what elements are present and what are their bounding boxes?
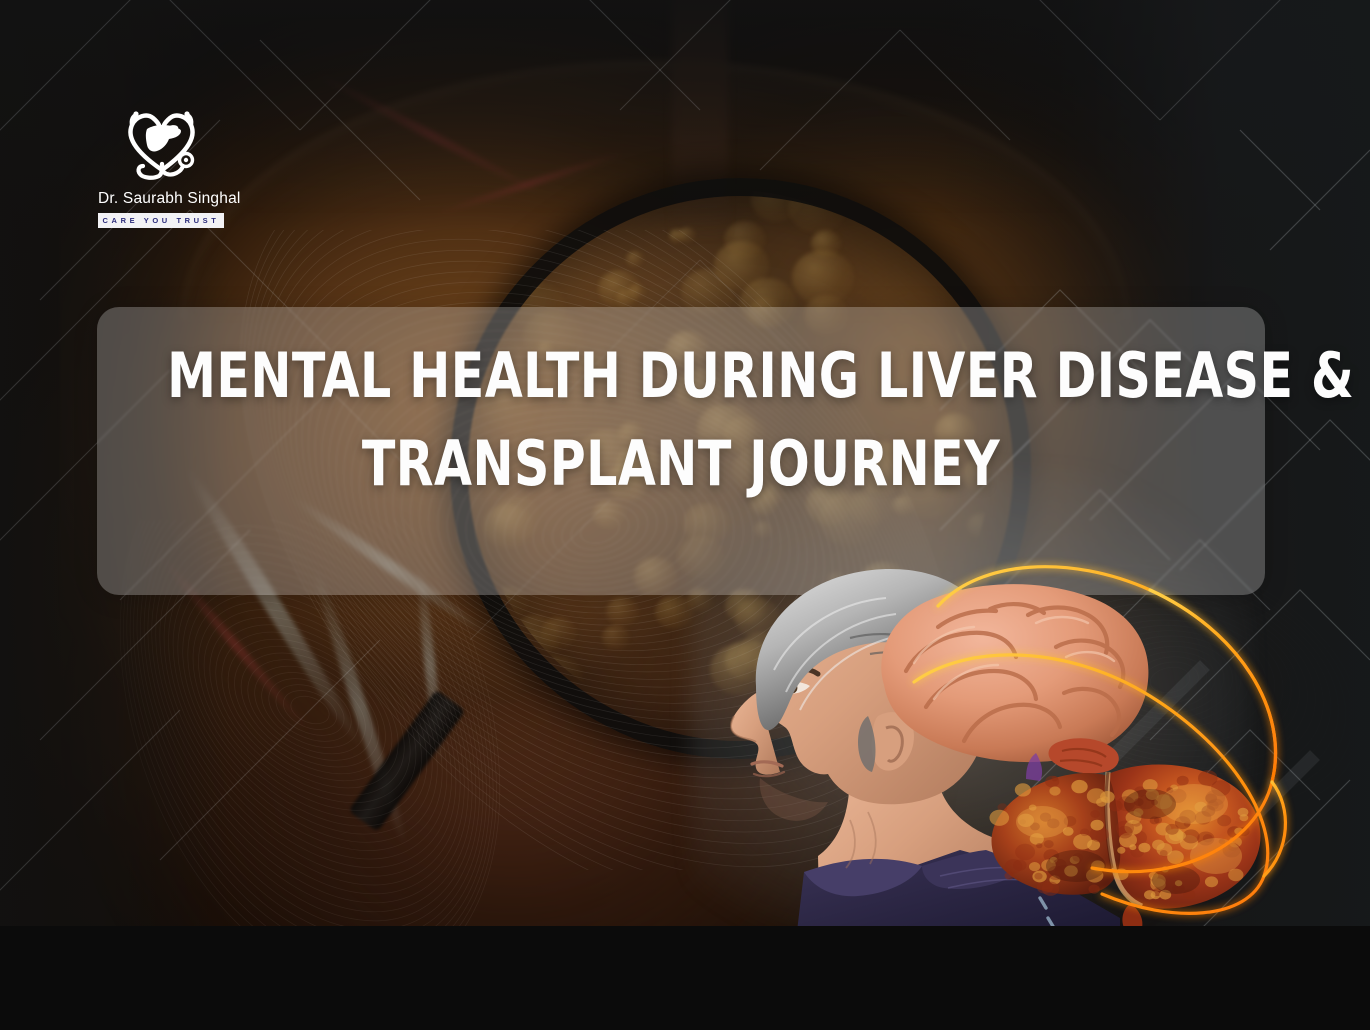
headline-line-1: MENTAL HEALTH DURING LIVER DISEASE &: [167, 332, 1195, 420]
banner-canvas: Dr. Saurabh Singhal CARE YOU TRUST MENTA…: [0, 0, 1370, 1030]
stethoscope-heart-liver-icon: [119, 104, 205, 182]
bottom-bar: [0, 926, 1370, 1030]
brand-tagline: CARE YOU TRUST: [98, 213, 224, 228]
cirrhotic-liver-icon: [980, 740, 1270, 940]
hero-figure: [700, 520, 1370, 940]
brand-name: Dr. Saurabh Singhal: [98, 190, 226, 208]
page-title: MENTAL HEALTH DURING LIVER DISEASE & TRA…: [167, 332, 1195, 508]
brand-logo[interactable]: Dr. Saurabh Singhal CARE YOU TRUST: [98, 104, 226, 228]
headline-line-2: TRANSPLANT JOURNEY: [167, 420, 1195, 508]
